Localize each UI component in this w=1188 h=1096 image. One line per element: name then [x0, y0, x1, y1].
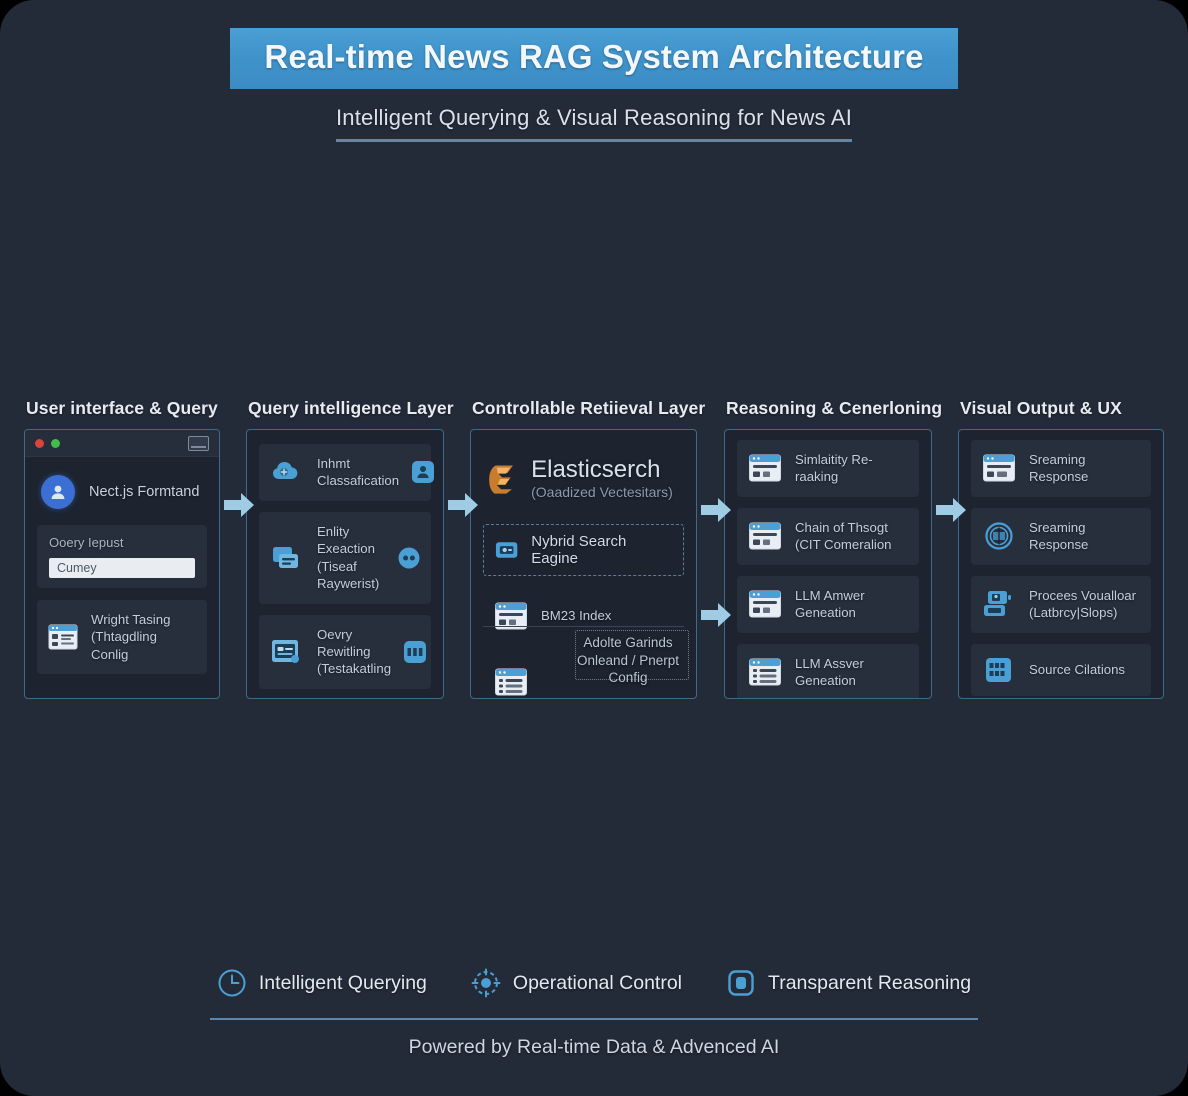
column3-divider — [483, 626, 684, 627]
arrow-col3-col4-bottom — [699, 600, 733, 630]
panel-controllable-retrieval: Elasticserch (Oaadized Vectesitars) Nybr… — [470, 429, 697, 699]
arrow-col3-col4-top — [699, 495, 733, 525]
browser-chrome-bar — [25, 430, 219, 457]
llm-answer-item[interactable]: LLM Amwer Geneation — [737, 576, 919, 633]
footer-badges: Intelligent Querying Operational Control… — [0, 968, 1188, 998]
badge-operational-control[interactable]: Operational Control — [471, 968, 682, 998]
streaming-response-item-1[interactable]: Sreaming Response — [971, 440, 1151, 497]
intent-classification-title: Inhmt — [317, 456, 350, 471]
column-controllable-retrieval: Controllable Retiieval Layer Elasticserc… — [470, 398, 697, 699]
weight-tuning-title: Wright Tasing — [91, 612, 170, 627]
entity-extraction-item[interactable]: Enlity Exeaction (Tiseaf Raywerist) — [259, 512, 431, 604]
window-edit-icon — [270, 637, 304, 667]
weight-tuning-sub: (Thtagdling Conlig — [91, 628, 196, 663]
badge-label-intelligent-querying: Intelligent Querying — [259, 972, 427, 995]
badge-intelligent-querying[interactable]: Intelligent Querying — [217, 968, 427, 998]
similarity-reranking-text: Simlaitity Re-raaking — [795, 451, 908, 486]
chain-of-thought-text: Chain of Thsogt (CIT Comeralion — [795, 519, 908, 554]
window-maximize-dot[interactable] — [51, 439, 60, 448]
adaptive-grounding-line2: Onleand / Pnerpt Config — [577, 653, 679, 686]
hybrid-search-engine-label: Nybrid Search Eagine — [531, 533, 673, 567]
page-subtitle: Intelligent Querying & Visual Reasoning … — [336, 105, 852, 142]
query-rewriting-text: Oevry Rewitling (Testakatling — [317, 626, 391, 678]
column-header-controllable-retrieval: Controllable Retiieval Layer — [472, 398, 697, 419]
weight-tuning-item[interactable]: Wright Tasing (Thtagdling Conlig — [37, 600, 207, 674]
elasticsearch-sub: (Oaadized Vectesitars) — [531, 484, 673, 500]
frontend-row[interactable]: Nect.js Formtand — [25, 457, 219, 525]
footer-divider — [210, 1018, 978, 1020]
query-input-label: Ooery Iepust — [49, 535, 195, 550]
user-avatar-icon — [41, 475, 75, 509]
elasticsearch-text: Elasticserch (Oaadized Vectesitars) — [531, 456, 680, 502]
process-visualizer-title: Procees Voualloar — [1029, 588, 1136, 603]
entity-extraction-title: Enlity Exeaction — [317, 524, 375, 556]
llm-answer-generation-text: LLM Assver Geneation — [795, 655, 908, 690]
subtitle-wrap: Intelligent Querying & Visual Reasoning … — [0, 105, 1188, 142]
entity-extraction-sub: (Tiseaf Raywerist) — [317, 558, 385, 593]
badge-link-icon — [398, 547, 420, 569]
card-stack-icon — [982, 589, 1016, 619]
badge-code-icon — [404, 641, 426, 663]
window-close-dot[interactable] — [35, 439, 44, 448]
bm25-index-text: BM23 Index — [541, 607, 673, 624]
weight-tuning-text: Wright Tasing (Thtagdling Conlig — [91, 611, 196, 663]
adaptive-grounding-overlay: Adolte Garinds Onleand / Pnerpt Config — [563, 634, 693, 687]
llm-answer-text: LLM Amwer Geneation — [795, 587, 908, 622]
column-header-query-intelligence: Query intelligence Layer — [248, 398, 444, 419]
intent-classification-item[interactable]: Inhmt Classafication — [259, 444, 431, 501]
clock-icon — [217, 968, 247, 998]
elasticsearch-row: Elasticserch (Oaadized Vectesitars) — [471, 430, 696, 520]
frontend-label: Nect.js Formtand — [89, 484, 199, 500]
intent-classification-text: Inhmt Classafication — [317, 455, 399, 490]
adaptive-grounding-line1: Adolte Garinds — [583, 635, 672, 650]
elasticsearch-logo-icon — [487, 450, 515, 508]
chip-search-icon — [494, 539, 519, 561]
panel-visual-output: Sreaming Response Sreaming Response — [958, 429, 1164, 699]
hybrid-search-engine-box[interactable]: Nybrid Search Eagine — [483, 524, 684, 576]
window-mini-icon[interactable] — [188, 436, 209, 451]
intent-classification-sub: Classafication — [317, 472, 399, 489]
chain-of-thought-title: Chain of Thsogt — [795, 520, 888, 535]
header: Real-time News RAG System Architecture I… — [0, 0, 1188, 142]
rounded-square-icon — [726, 968, 756, 998]
column-query-intelligence: Query intelligence Layer Inhmt Classafic… — [246, 398, 444, 699]
gear-target-icon — [471, 968, 501, 998]
panel-user-interface: Nect.js Formtand Ooery Iepust Cumey — [24, 429, 220, 699]
column-header-reasoning: Reasoning & Cenerloning — [726, 398, 932, 419]
badge-user-icon — [412, 461, 434, 483]
arrow-col2-col3 — [446, 490, 480, 520]
chain-of-thought-item[interactable]: Chain of Thsogt (CIT Comeralion — [737, 508, 919, 565]
grid-code-icon — [982, 655, 1016, 685]
streaming-response-text-2: Sreaming Response — [1029, 519, 1140, 554]
column-header-user-interface: User interface & Query — [26, 398, 220, 419]
arrow-col4-col5 — [934, 495, 968, 525]
streaming-response-text-1: Sreaming Response — [1029, 451, 1140, 486]
llm-answer-generation-item[interactable]: LLM Assver Geneation — [737, 644, 919, 699]
window-list-icon — [748, 657, 782, 687]
source-citations-item[interactable]: Source Cilations — [971, 644, 1151, 696]
query-input-card: Ooery Iepust Cumey — [37, 525, 207, 588]
badge-label-operational-control: Operational Control — [513, 972, 682, 995]
circle-globe-icon — [982, 521, 1016, 551]
badge-transparent-reasoning[interactable]: Transparent Reasoning — [726, 968, 971, 998]
query-input[interactable]: Cumey — [49, 558, 195, 578]
llm-answer-sub: Geneation — [795, 604, 908, 621]
powered-by-text: Powered by Real-time Data & Advenced AI — [0, 1036, 1188, 1059]
query-rewriting-item[interactable]: Oevry Rewitling (Testakatling — [259, 615, 431, 689]
panel-reasoning: Simlaitity Re-raaking Chain of Thsogt (C… — [724, 429, 932, 699]
window-list-icon — [48, 624, 78, 650]
panel-query-intelligence: Inhmt Classafication — [246, 429, 444, 699]
window-panel-icon — [748, 521, 782, 551]
column-reasoning: Reasoning & Cenerloning Simlaitity Re-ra… — [724, 398, 932, 699]
badge-label-transparent-reasoning: Transparent Reasoning — [768, 972, 971, 995]
query-rewriting-title: Oevry Rewitling — [317, 627, 371, 659]
source-citations-text: Source Cilations — [1029, 661, 1140, 678]
process-visualizer-item[interactable]: Procees Voualloar (Latbrcy|Slops) — [971, 576, 1151, 633]
window-panel-icon — [982, 453, 1016, 483]
process-visualizer-sub: (Latbrcy|Slops) — [1029, 604, 1140, 621]
diagram-canvas: Real-time News RAG System Architecture I… — [0, 0, 1188, 1096]
page-title: Real-time News RAG System Architecture — [230, 28, 957, 89]
window-panel-icon — [748, 589, 782, 619]
column-user-interface: User interface & Query Nect.js F — [24, 398, 220, 699]
architecture-columns: User interface & Query Nect.js F — [0, 398, 1188, 718]
query-rewriting-sub: (Testakatling — [317, 660, 391, 677]
similarity-reranking-item[interactable]: Simlaitity Re-raaking — [737, 440, 919, 497]
streaming-response-item-2[interactable]: Sreaming Response — [971, 508, 1151, 565]
arrow-col1-col2 — [222, 490, 256, 520]
elasticsearch-name: Elasticserch — [531, 456, 660, 483]
brain-cloud-icon — [270, 457, 304, 487]
window-panel-icon — [748, 453, 782, 483]
window-list-icon — [494, 667, 528, 697]
layers-card-icon — [270, 543, 304, 573]
process-visualizer-text: Procees Voualloar (Latbrcy|Slops) — [1029, 587, 1140, 622]
llm-answer-title: LLM Amwer — [795, 588, 865, 603]
chain-of-thought-sub: (CIT Comeralion — [795, 536, 908, 553]
footer: Intelligent Querying Operational Control… — [0, 968, 1188, 1059]
entity-extraction-text: Enlity Exeaction (Tiseaf Raywerist) — [317, 523, 385, 593]
column-visual-output: Visual Output & UX Sreaming Response — [958, 398, 1164, 699]
column-header-visual-output: Visual Output & UX — [960, 398, 1164, 419]
